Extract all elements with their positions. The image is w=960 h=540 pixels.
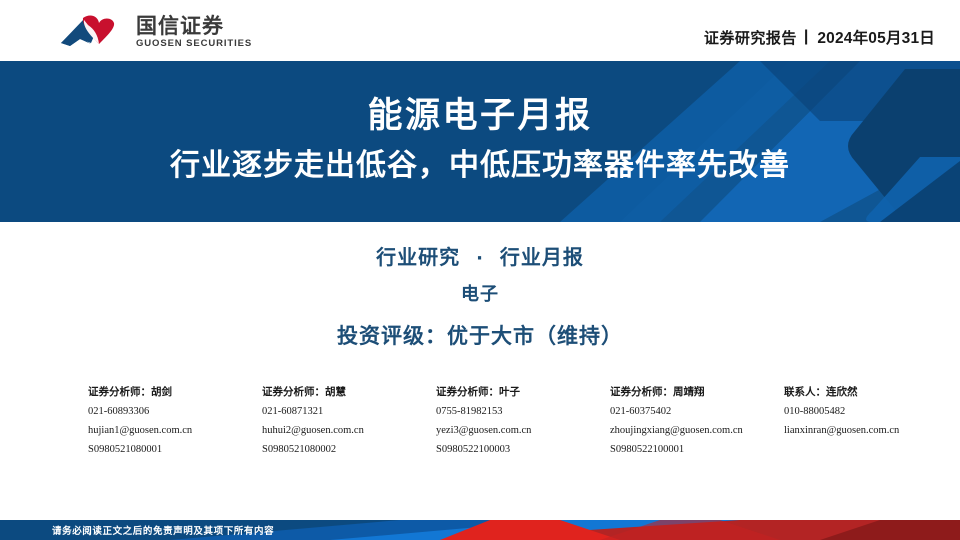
- research-category: 行业研究: [376, 245, 460, 269]
- analyst-email[interactable]: zhoujingxiang@guosen.com.cn: [610, 421, 784, 440]
- analyst-name: 证券分析师：胡剑: [88, 383, 262, 402]
- header-report-meta: 证券研究报告 | 2024年05月31日: [704, 26, 935, 48]
- footer-disclaimer: 请务必阅读正文之后的免责声明及其项下所有内容: [52, 520, 274, 540]
- analyst-email[interactable]: huhui2@guosen.com.cn: [262, 421, 436, 440]
- contact-column: 联系人：连欣然 010-88005482 lianxinran@guosen.c…: [784, 383, 960, 440]
- analyst-column: 证券分析师：胡剑 021-60893306 hujian1@guosen.com…: [88, 383, 262, 459]
- analyst-column: 证券分析师：周靖翔 021-60375402 zhoujingxiang@guo…: [610, 383, 784, 459]
- guosen-logo-mark: [58, 13, 130, 51]
- logo-chinese-name: 国信证券: [136, 14, 252, 38]
- meta-dot-separator: ·: [476, 248, 484, 269]
- page-footer: 请务必阅读正文之后的免责声明及其项下所有内容: [0, 520, 960, 540]
- analyst-license: S0980522100001: [610, 440, 784, 459]
- banner-text-block: 能源电子月报 行业逐步走出低谷，中低压功率器件率先改善: [0, 61, 960, 222]
- title-banner: 能源电子月报 行业逐步走出低谷，中低压功率器件率先改善: [0, 61, 960, 222]
- analyst-column: 证券分析师：胡慧 021-60871321 huhui2@guosen.com.…: [262, 383, 436, 459]
- company-logo: 国信证券 GUOSEN SECURITIES: [58, 13, 252, 51]
- analyst-license: S0980521080001: [88, 440, 262, 459]
- analyst-license: S0980521080002: [262, 440, 436, 459]
- logo-text-block: 国信证券 GUOSEN SECURITIES: [136, 14, 252, 50]
- report-type-label: 证券研究报告: [704, 27, 797, 48]
- report-title: 能源电子月报: [367, 93, 592, 140]
- analyst-column: 证券分析师：叶子 0755-81982153 yezi3@guosen.com.…: [436, 383, 610, 459]
- industry-name: 电子: [0, 278, 960, 312]
- research-report-type: 行业月报: [500, 245, 584, 269]
- contact-phone: 010-88005482: [784, 402, 960, 421]
- contact-email[interactable]: lianxinran@guosen.com.cn: [784, 421, 960, 440]
- analyst-name: 证券分析师：周靖翔: [610, 383, 784, 402]
- analyst-contact-list: 证券分析师：胡剑 021-60893306 hujian1@guosen.com…: [88, 383, 888, 459]
- analyst-phone: 021-60893306: [88, 402, 262, 421]
- analyst-email[interactable]: yezi3@guosen.com.cn: [436, 421, 610, 440]
- analyst-email[interactable]: hujian1@guosen.com.cn: [88, 421, 262, 440]
- report-cover-page: 国信证券 GUOSEN SECURITIES 证券研究报告 | 2024年05月…: [0, 0, 960, 540]
- header-separator: |: [804, 28, 808, 46]
- analyst-phone: 021-60375402: [610, 402, 784, 421]
- report-date: 2024年05月31日: [817, 26, 935, 48]
- report-meta-block: 行业研究·行业月报 电子 投资评级：优于大市（维持）: [0, 240, 960, 354]
- logo-english-name: GUOSEN SECURITIES: [136, 38, 252, 50]
- report-subtitle: 行业逐步走出低谷，中低压功率器件率先改善: [170, 142, 790, 190]
- analyst-name: 证券分析师：叶子: [436, 383, 610, 402]
- contact-name: 联系人：连欣然: [784, 383, 960, 402]
- analyst-name: 证券分析师：胡慧: [262, 383, 436, 402]
- research-category-line: 行业研究·行业月报: [0, 240, 960, 276]
- investment-rating: 投资评级：优于大市（维持）: [0, 318, 960, 354]
- analyst-phone: 021-60871321: [262, 402, 436, 421]
- analyst-license: S0980522100003: [436, 440, 610, 459]
- page-header: 国信证券 GUOSEN SECURITIES 证券研究报告 | 2024年05月…: [0, 0, 960, 61]
- analyst-phone: 0755-81982153: [436, 402, 610, 421]
